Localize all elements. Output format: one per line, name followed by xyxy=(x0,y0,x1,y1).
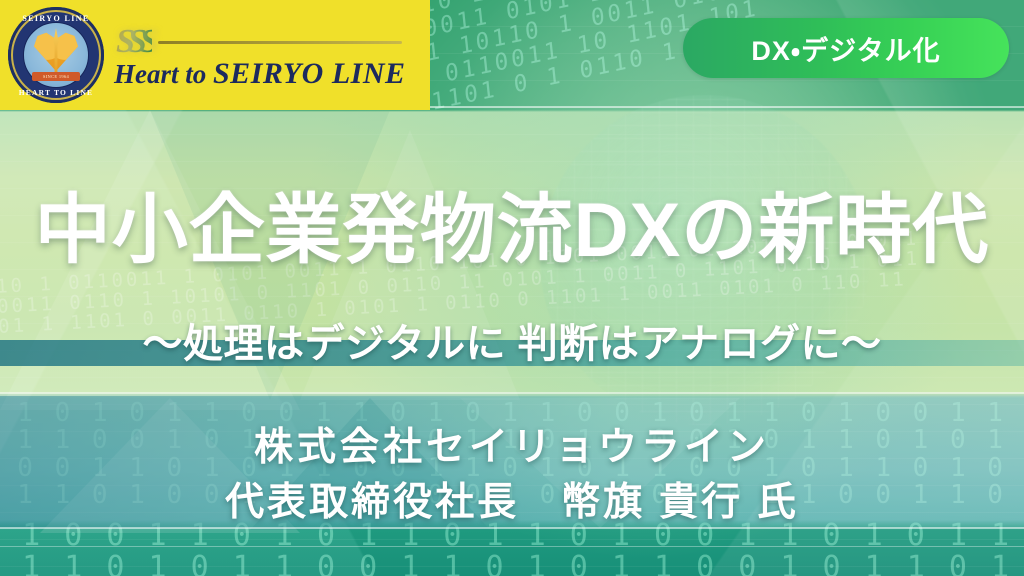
speaker-company: 株式会社セイリョウライン xyxy=(0,420,1024,475)
presentation-title-slide: 10 1101 0 110100110 1 0011 0101 1 0110 0… xyxy=(0,0,1024,576)
page-subtitle: 〜処理はデジタルに 判断はアナログに〜 xyxy=(0,322,1024,366)
speaker-title-name: 代表取締役社長 幣旗 貴行 氏 xyxy=(0,475,1024,530)
page-title: 中小企業発物流DXの新時代 xyxy=(0,190,1024,272)
sss-glyphs: SSS xyxy=(114,25,152,59)
wordmark-tagline-main: SEIRYO LINE xyxy=(213,57,406,90)
category-badge-label: DX・デジタル化 xyxy=(751,29,940,68)
crest-scroll-banner: SINCE 1964 xyxy=(32,72,80,81)
category-badge[interactable]: DX・デジタル化 xyxy=(683,18,1009,78)
speaker-block: 株式会社セイリョウライン 代表取締役社長 幣旗 貴行 氏 xyxy=(0,420,1024,531)
crest-text-top: SEIRYO LINE xyxy=(8,14,104,23)
sss-wave-mark: SSS xyxy=(114,27,406,57)
wordmark-tagline: Heart to SEIRYO LINE xyxy=(114,59,406,89)
seiryo-line-wordmark: SSS Heart to SEIRYO LINE xyxy=(114,21,406,89)
wordmark-rule xyxy=(158,41,402,44)
seiryo-line-crest-icon: SINCE 1964 SEIRYO LINE HEART TO LINE xyxy=(8,7,104,103)
brand-header-bar: SINCE 1964 SEIRYO LINE HEART TO LINE SSS… xyxy=(0,0,430,110)
wordmark-tagline-prefix: Heart to xyxy=(114,59,213,89)
crest-text-bottom: HEART TO LINE xyxy=(8,88,104,97)
